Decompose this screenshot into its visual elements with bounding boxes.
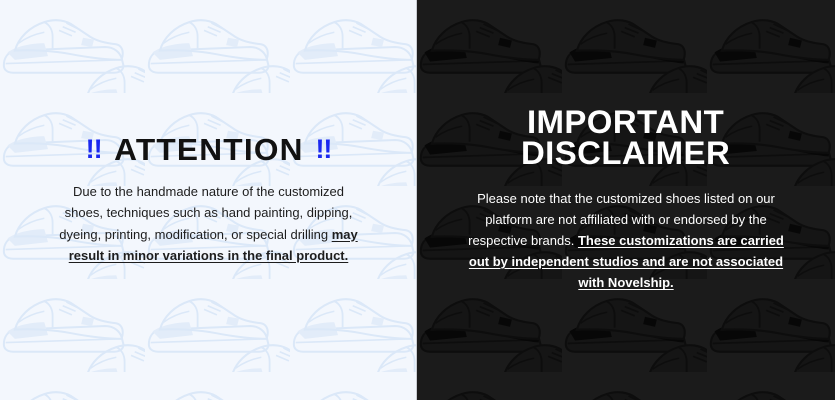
disclaimer-heading: IMPORTANT DISCLAIMER bbox=[521, 107, 730, 170]
attention-heading: !! ATTENTION !! bbox=[86, 134, 332, 165]
disclaimer-panel: IMPORTANT DISCLAIMER Please note that th… bbox=[417, 0, 835, 400]
panel-divider bbox=[416, 0, 417, 400]
attention-body: Due to the handmade nature of the custom… bbox=[53, 181, 365, 265]
disclaimer-body: Please note that the customized shoes li… bbox=[461, 188, 791, 293]
attention-body-normal: Due to the handmade nature of the custom… bbox=[59, 184, 352, 241]
disclaimer-content: IMPORTANT DISCLAIMER Please note that th… bbox=[417, 0, 835, 400]
disclaimer-heading-line1: IMPORTANT bbox=[521, 107, 730, 139]
attention-content: !! ATTENTION !! Due to the handmade natu… bbox=[0, 0, 417, 400]
attention-heading-text: ATTENTION bbox=[114, 134, 304, 165]
double-exclamation-right-icon: !! bbox=[315, 136, 331, 163]
disclaimer-heading-line2: DISCLAIMER bbox=[521, 138, 730, 170]
double-exclamation-left-icon: !! bbox=[86, 136, 102, 163]
promo-banner: !! ATTENTION !! Due to the handmade natu… bbox=[0, 0, 835, 400]
attention-panel: !! ATTENTION !! Due to the handmade natu… bbox=[0, 0, 417, 400]
